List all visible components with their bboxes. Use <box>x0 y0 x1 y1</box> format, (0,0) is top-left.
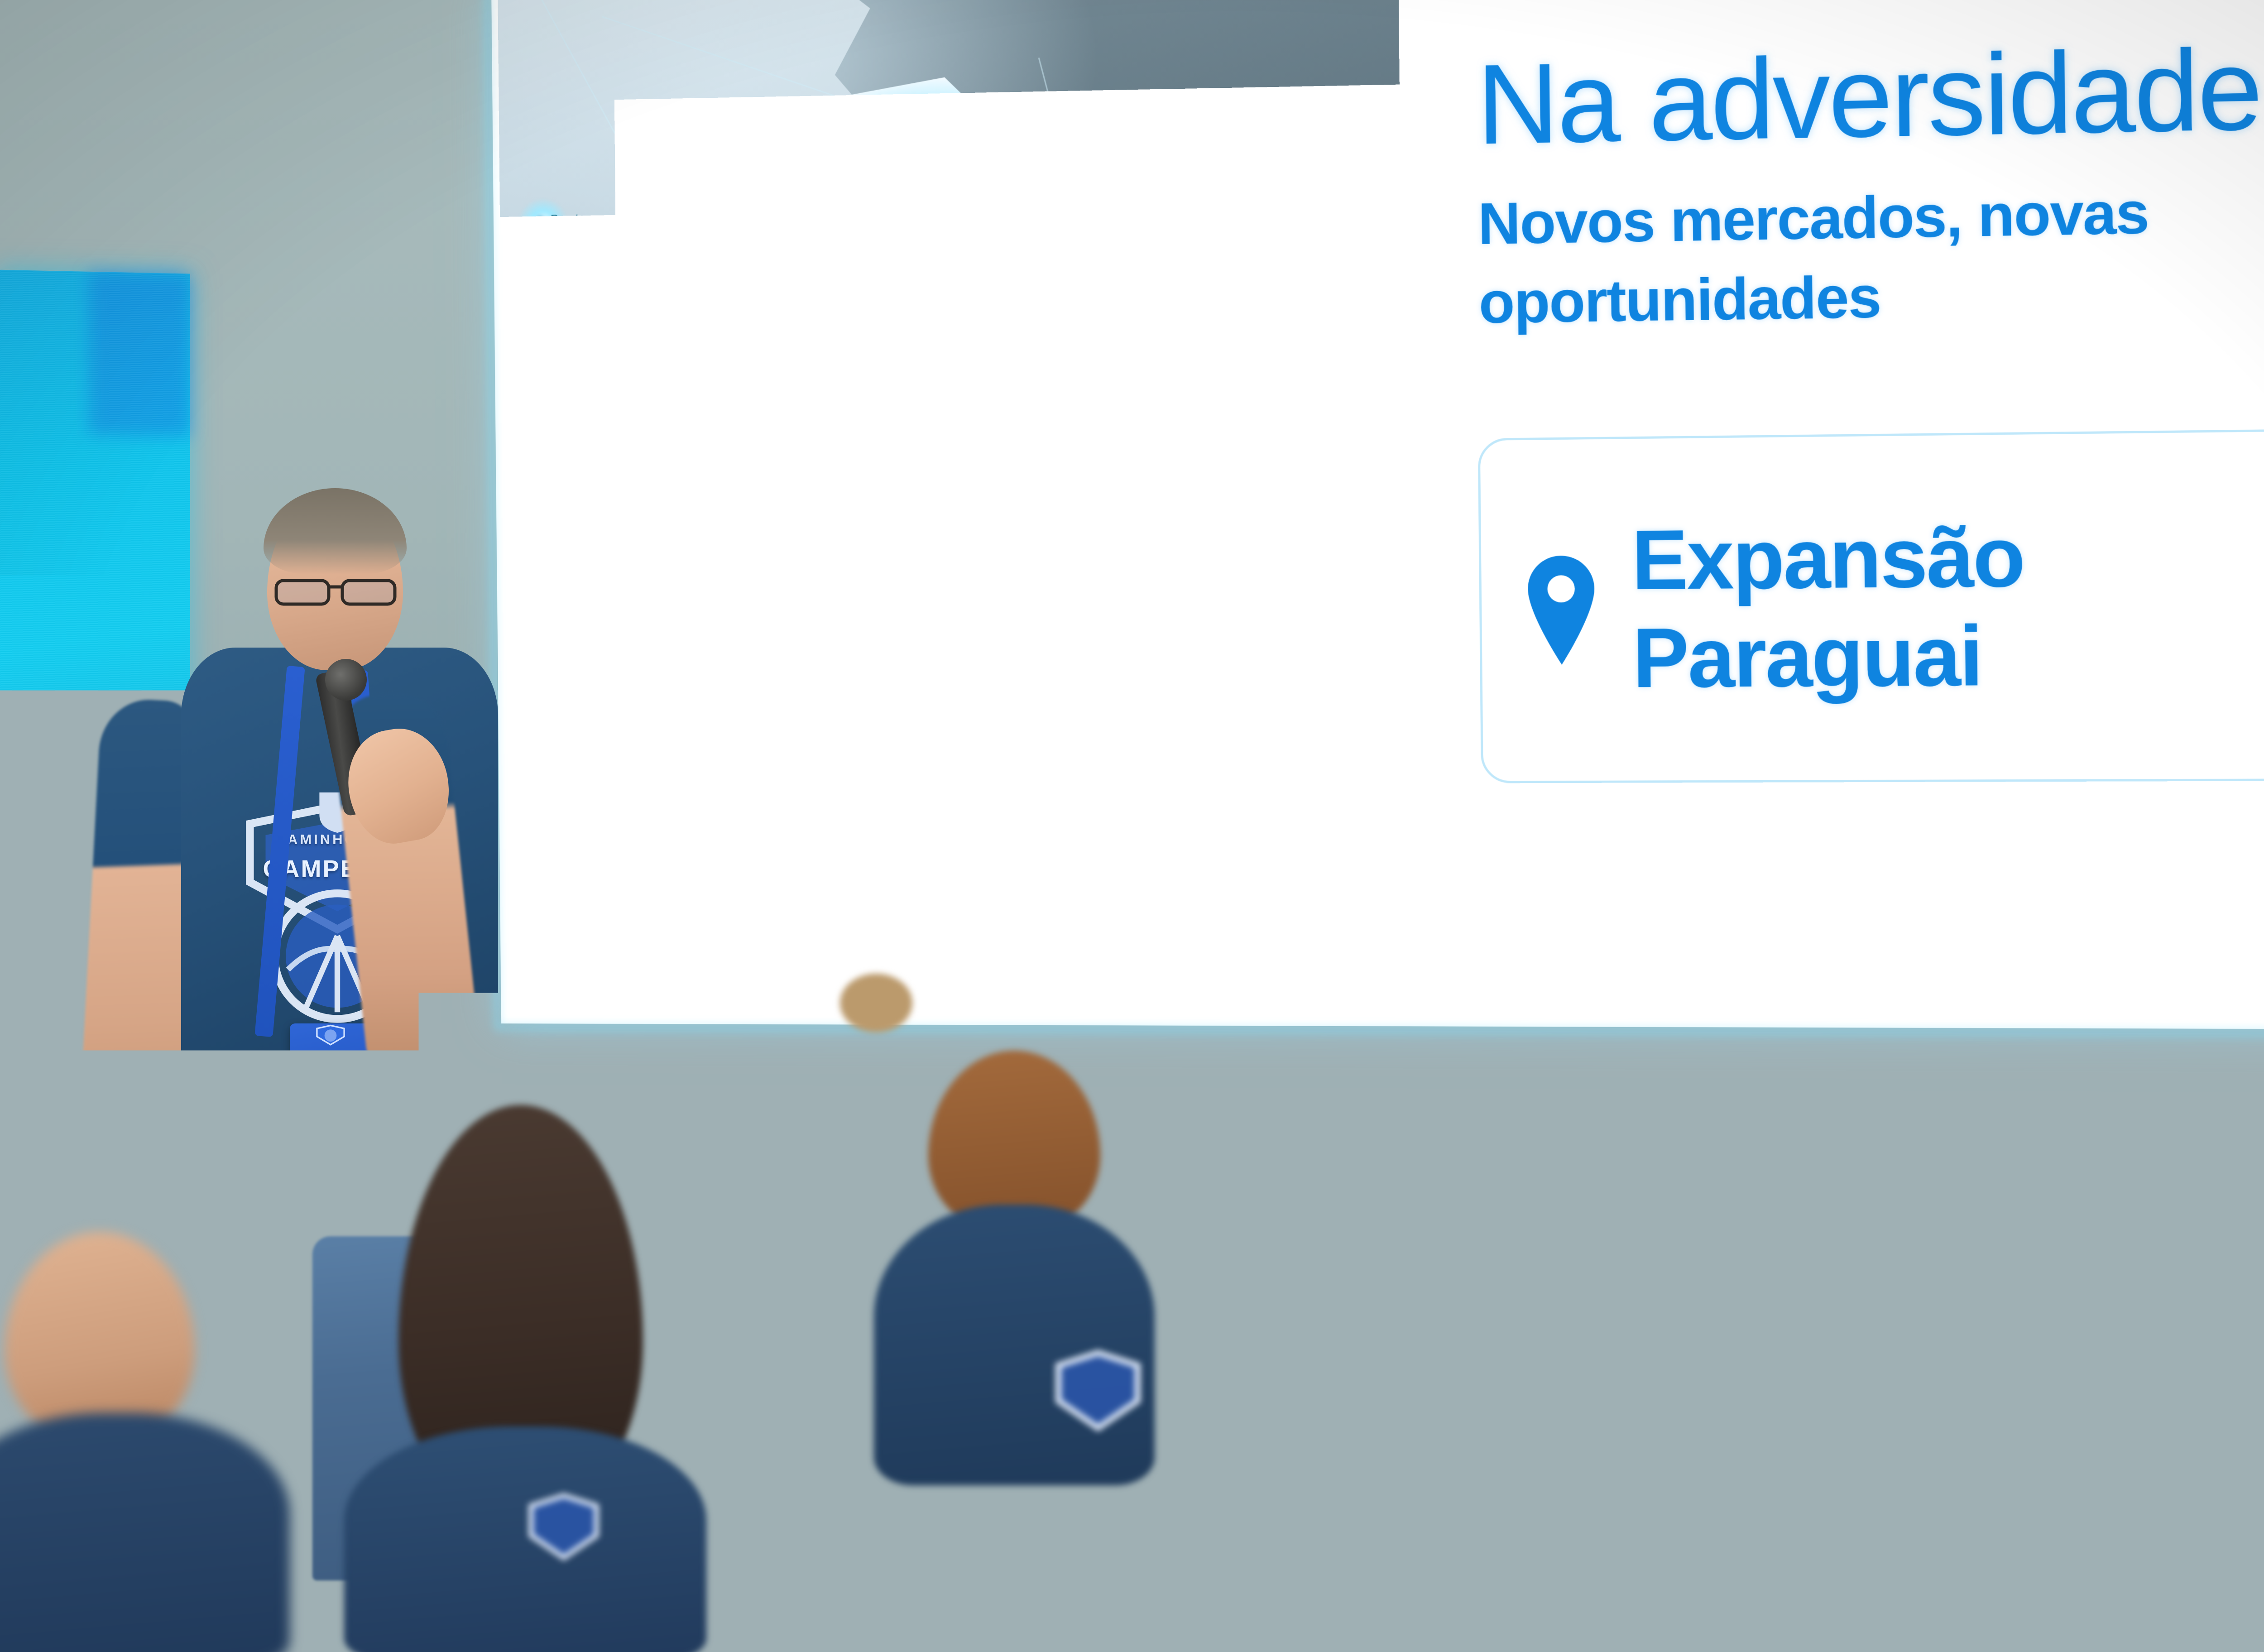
map-city-label: Puerto <box>550 211 585 226</box>
map-city-marker: Mariscal <box>623 248 682 264</box>
audience-shirt <box>172 1558 625 1652</box>
banner-shadow <box>89 272 190 437</box>
map-city-marker: Paraguay <box>499 660 550 676</box>
map-city-marker: Pilar <box>797 835 836 850</box>
map-city-dot <box>822 604 830 612</box>
map-city-marker: Concepción <box>822 599 901 615</box>
map-city-marker: Villa Hayes <box>759 716 834 732</box>
badge-qr-code <box>313 1093 348 1125</box>
map-city-label: Mariscal <box>637 248 681 264</box>
badge-stars: ★ ★ ★ ★ ★ <box>303 1081 358 1089</box>
map-city-label: Villa Hayes <box>774 716 834 731</box>
speaker-badge: FRANCO FIASUL ★ ★ ★ ★ ★ <box>290 1023 371 1137</box>
map-city-label: Pozo Colorado <box>667 565 746 582</box>
eyeglasses-icon <box>273 576 398 608</box>
map-region-label: Paraguay <box>499 660 550 676</box>
map-node-ring <box>720 427 794 501</box>
audience-shirt-crest <box>521 1485 607 1571</box>
badge-org: FIASUL <box>314 1069 347 1079</box>
map-country-label: Paraguay <box>848 445 1027 496</box>
conference-photo-scene: ÃO Puerto Mariscal <box>0 0 2264 1652</box>
badge-crest-icon <box>311 1023 350 1047</box>
map-city-dot <box>536 216 544 224</box>
map-city-dot <box>653 571 661 579</box>
badge-name: FRANCO <box>302 1053 360 1067</box>
audience-shirt-crest <box>1046 1340 1150 1445</box>
map-city-dot <box>797 839 805 846</box>
map-city-dot <box>623 253 630 261</box>
map-city-marker: Puerto <box>536 211 585 227</box>
map-node-glow <box>1199 662 1241 703</box>
map-node-glow <box>1318 883 1356 920</box>
map-node-glow <box>1098 943 1132 975</box>
back-wall-dark-column <box>666 1003 720 1239</box>
audience-hair-bun <box>840 974 912 1032</box>
slide-map-panel: Puerto Mariscal Pozo Colorado Concepción… <box>498 0 1409 1017</box>
map-city-dot <box>759 721 767 729</box>
map-city-label: Pilar <box>812 835 836 850</box>
map-city-label: Concepción <box>837 599 901 615</box>
